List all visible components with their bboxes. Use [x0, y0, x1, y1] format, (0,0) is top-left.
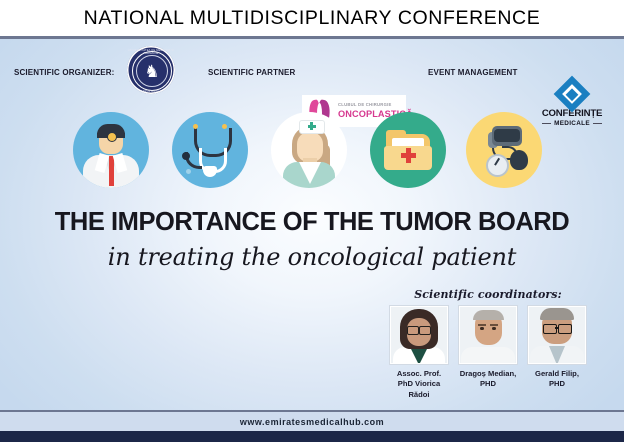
conference-banner: NATIONAL MULTIDISCIPLINARY CONFERENCE SC…	[0, 0, 624, 442]
event-management-label: EVENT MANAGEMENT	[428, 68, 518, 77]
coordinators-row: Assoc. Prof. PhD Viorica Rădoi Dragoș Me…	[380, 306, 596, 400]
page-title: NATIONAL MULTIDISCIPLINARY CONFERENCE	[84, 7, 541, 30]
coordinator-item: Gerald Filip, PHD	[527, 306, 587, 400]
website-url[interactable]: www.emiratesmedicalhub.com	[240, 417, 384, 427]
nurse-avatar-icon	[271, 112, 347, 188]
coordinator-name: Dragoș Median, PHD	[458, 369, 518, 390]
scientific-coordinators-block: Scientific coordinators: Assoc. Prof. Ph…	[380, 288, 596, 400]
coordinator-item: Dragoș Median, PHD	[458, 306, 518, 400]
doctor-avatar-icon	[73, 112, 149, 188]
partner-logo-strip: SCIENTIFIC ORGANIZER: ♞ UNIVERSITATEA DE…	[0, 39, 624, 102]
coordinator-photo	[459, 306, 517, 364]
scientific-partner-label: SCIENTIFIC PARTNER	[208, 68, 295, 77]
university-medical-seal-icon: ♞ UNIVERSITATEA DE MEDICINA SI FARMACIE …	[124, 45, 178, 97]
diamond-icon	[554, 76, 591, 113]
footer-bar: www.emiratesmedicalhub.com	[0, 412, 624, 431]
seal-text-bottom: CAROL DAVILA	[124, 90, 178, 93]
conference-subtitle: in treating the oncological patient	[0, 243, 624, 271]
conference-title: THE IMPORTANCE OF THE TUMOR BOARD	[0, 208, 624, 237]
blood-pressure-cuff-icon	[466, 112, 542, 188]
oncoplastica-line1: CLUBUL DE CHIRURGIE	[338, 103, 413, 107]
stethoscope-icon	[172, 112, 248, 188]
seal-text-top: UNIVERSITATEA DE MEDICINA SI FARMACIE	[124, 49, 178, 55]
coordinator-name: Gerald Filip, PHD	[527, 369, 587, 390]
coordinator-item: Assoc. Prof. PhD Viorica Rădoi	[389, 306, 449, 400]
seal-horse-glyph: ♞	[144, 63, 159, 80]
scientific-organizer-label: SCIENTIFIC ORGANIZER:	[14, 68, 114, 77]
footer-dark-bar	[0, 431, 624, 442]
coordinators-heading: Scientific coordinators:	[380, 288, 596, 301]
coordinator-photo	[528, 306, 586, 364]
medical-icon-row	[0, 112, 624, 192]
banner-header: NATIONAL MULTIDISCIPLINARY CONFERENCE	[0, 0, 624, 36]
medical-folder-icon	[370, 112, 446, 188]
coordinator-name: Assoc. Prof. PhD Viorica Rădoi	[389, 369, 449, 400]
coordinator-photo	[390, 306, 448, 364]
